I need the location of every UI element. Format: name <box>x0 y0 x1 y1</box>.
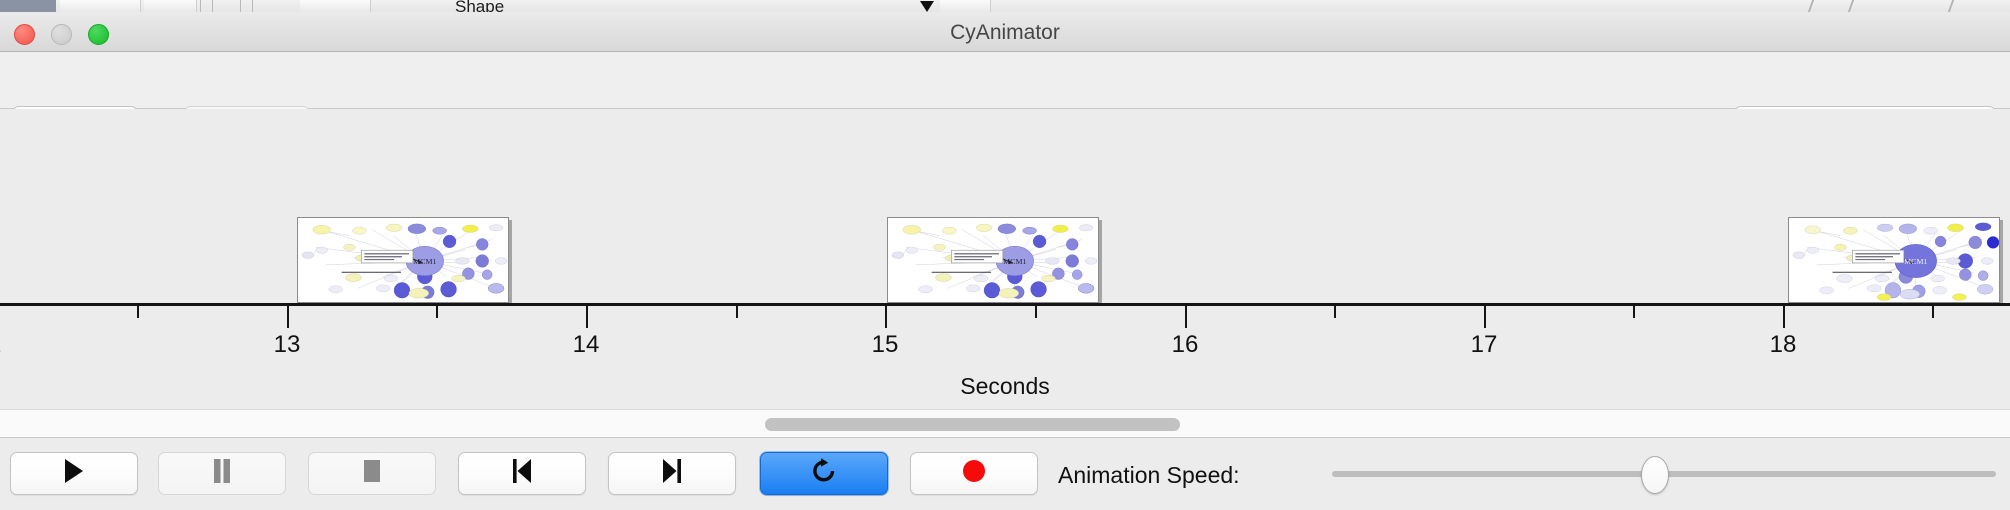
ruler-tick-minor <box>736 306 738 318</box>
svg-text:MCM1: MCM1 <box>413 257 436 266</box>
ruler-tick-minor <box>436 306 438 318</box>
background-window-cursor-icon <box>920 1 934 12</box>
network-thumbnail-2: MCM1 <box>888 218 1098 302</box>
ruler-tick-major <box>1484 306 1486 328</box>
stop-button[interactable] <box>308 452 436 495</box>
ruler-tick-major <box>586 306 588 328</box>
timeline-ruler[interactable]: 12 13 14 15 16 17 18 Seconds <box>0 303 2010 409</box>
timeline-axis-title: Seconds <box>0 373 2010 400</box>
stop-icon <box>361 458 383 489</box>
ruler-tick-minor <box>1932 306 1934 318</box>
record-button[interactable] <box>910 452 1038 495</box>
timeline-panel[interactable]: MCM1 <box>0 109 2010 409</box>
svg-text:MCM1: MCM1 <box>1003 257 1026 266</box>
ruler-label: 14 <box>573 331 600 359</box>
ruler-baseline <box>0 303 2010 306</box>
ruler-label: 17 <box>1471 331 1498 359</box>
timeline-frame-thumbnail[interactable]: MCM1 <box>887 217 1099 303</box>
loop-icon <box>811 457 837 490</box>
pause-icon <box>211 458 233 489</box>
toolbar: ✚ Clear All Frames <box>0 52 2010 109</box>
network-thumbnail-1: MCM1 <box>298 218 508 302</box>
playback-control-bar: Animation Speed: <box>0 438 2010 510</box>
loop-button[interactable] <box>760 452 888 495</box>
ruler-tick-major <box>885 306 887 328</box>
page-title: CyAnimator <box>0 21 2010 45</box>
pause-button[interactable] <box>158 452 286 495</box>
ruler-tick-minor <box>1035 306 1037 318</box>
skip-to-start-button[interactable] <box>458 452 586 495</box>
title-bar: CyAnimator <box>0 12 2010 52</box>
timeline-horizontal-scrollbar[interactable] <box>0 409 2010 438</box>
background-window-strip: Shape <box>0 0 2010 12</box>
play-icon <box>62 458 86 489</box>
timeline-frame-thumbnail[interactable]: MCM1 <box>1788 217 2000 303</box>
ruler-tick-minor <box>137 306 139 318</box>
ruler-tick-major <box>287 306 289 328</box>
animation-speed-label: Animation Speed: <box>1058 462 1240 489</box>
ruler-tick-minor <box>1334 306 1336 318</box>
ruler-label: 18 <box>1770 331 1797 359</box>
animation-speed-slider[interactable] <box>1332 465 1996 483</box>
ruler-tick-minor <box>1633 306 1635 318</box>
ruler-label: 12 <box>0 331 1 359</box>
scrollbar-thumb[interactable] <box>765 418 1180 431</box>
svg-text:MCM1: MCM1 <box>1904 257 1927 266</box>
cyanimator-window: Shape CyAnimator ✚ <box>0 0 2010 510</box>
skip-back-icon <box>510 458 534 489</box>
ruler-label: 13 <box>274 331 301 359</box>
slider-thumb[interactable] <box>1641 456 1669 494</box>
skip-to-end-button[interactable] <box>608 452 736 495</box>
network-thumbnail-3: MCM1 <box>1789 218 1999 302</box>
skip-forward-icon <box>660 458 684 489</box>
ruler-tick-major <box>1783 306 1785 328</box>
background-window-selected-tab <box>0 0 56 12</box>
ruler-label: 15 <box>872 331 899 359</box>
ruler-tick-major <box>1185 306 1187 328</box>
record-icon <box>961 458 987 489</box>
timeline-frame-thumbnail[interactable]: MCM1 <box>297 217 509 303</box>
ruler-label: 16 <box>1172 331 1199 359</box>
background-window-shape-label: Shape <box>455 0 504 12</box>
play-button[interactable] <box>10 452 138 495</box>
